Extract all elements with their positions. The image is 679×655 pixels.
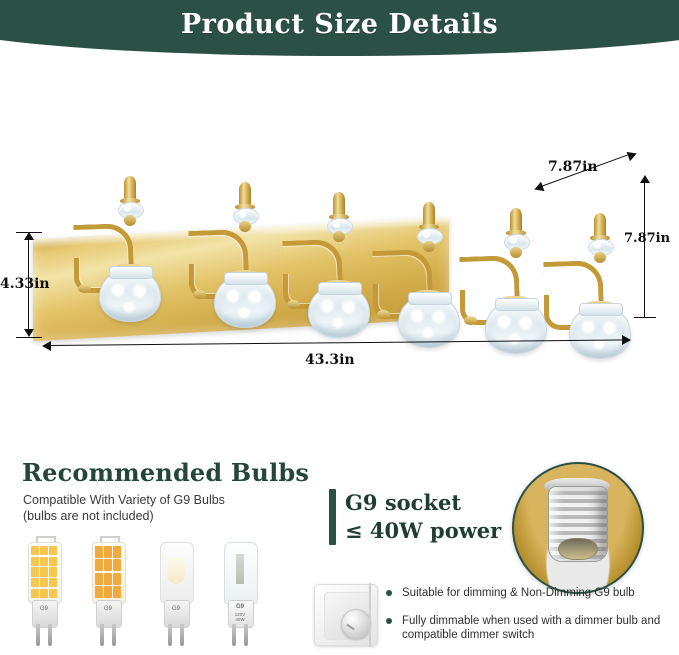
dimension-height-label: 4.33in [0, 276, 50, 292]
bulb-item-4: G9 120V 40W [214, 536, 266, 648]
crystal-shade-5 [485, 302, 547, 354]
g9-socket-line-1: G9 socket [345, 489, 501, 517]
subtitle-line-2: (bulbs are not included) [23, 508, 225, 524]
bulb-gallery: G9 G9 G9 [10, 536, 260, 648]
bulb-item-1: G9 [18, 536, 70, 648]
crystal-shade-3 [308, 286, 370, 338]
note-text-1: Suitable for dimming & Non-Dimming G9 bu… [402, 587, 635, 599]
g9-socket-line-2: ≤ 40W power [345, 517, 501, 545]
header-banner: Product Size Details [0, 0, 679, 60]
bulb-chips-1 [31, 546, 57, 598]
note-text-2: Fully dimmable when used with a dimmer b… [402, 615, 660, 642]
subtitle-line-1: Compatible With Variety of G9 Bulbs [23, 492, 225, 508]
crystal-shade-2 [214, 276, 276, 328]
recommended-bulbs-subtitle: Compatible With Variety of G9 Bulbs (bul… [23, 492, 225, 524]
g9-socket-heading: G9 socket ≤ 40W power [345, 489, 501, 545]
product-infographic: Product Size Details [0, 0, 679, 655]
list-item: Fully dimmable when used with a dimmer b… [386, 614, 674, 643]
g9-socket-photo [512, 462, 644, 594]
bulb-base-label-2: G9 [99, 606, 117, 612]
dimmer-plate [324, 592, 370, 640]
bulb-filament-4 [236, 554, 244, 584]
bulb-item-3: G9 [150, 536, 202, 648]
notes-divider [369, 583, 371, 647]
bulb-base-label-3: G9 [167, 606, 185, 612]
notes-list: Suitable for dimming & Non-Dimming G9 bu… [386, 586, 674, 655]
bulb-base-label-1: G9 [35, 606, 53, 612]
fixture-diagram: 4.33in 43.3in 7.87in 7.87in [0, 60, 679, 440]
bulb-filament-3 [167, 558, 185, 584]
bulb-item-2: G9 [82, 536, 134, 648]
list-item: Suitable for dimming & Non-Dimming G9 bu… [386, 586, 674, 601]
dimension-extension-label: 7.87in [624, 231, 670, 246]
dimension-depth-label: 7.87in [548, 159, 598, 175]
crystal-shade-1 [99, 270, 161, 322]
bulb-base-sublabel-4: 120V 40W [231, 612, 249, 622]
dimmer-knob [341, 609, 371, 639]
bullet-dot-icon [386, 590, 392, 596]
page-title: Product Size Details [0, 9, 679, 40]
bulb-chips-2 [95, 546, 121, 598]
recommended-bulbs-title: Recommended Bulbs [22, 458, 309, 487]
bulb-base-label-4: G9 [231, 604, 249, 610]
dimension-width-label: 43.3in [305, 352, 355, 368]
bullet-dot-icon [386, 618, 392, 624]
socket-mouth [558, 538, 598, 560]
crystal-shade-6 [569, 307, 631, 359]
g9-accent-bar [329, 489, 336, 545]
